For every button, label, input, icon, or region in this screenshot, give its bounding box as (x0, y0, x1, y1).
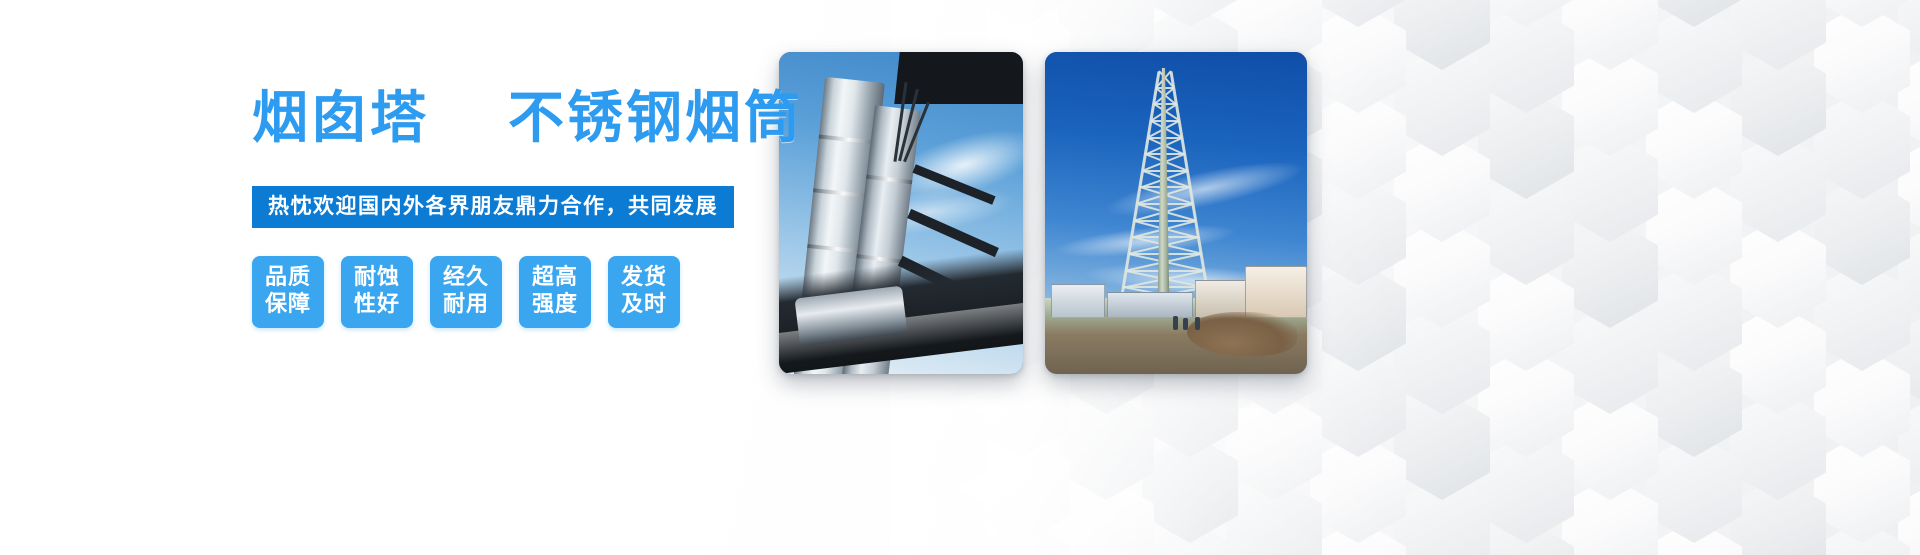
hexagon-tile (1814, 261, 1910, 371)
hexagon-tile (1898, 46, 1920, 156)
hexagon-tile (1730, 0, 1826, 70)
hexagon-tile (1394, 476, 1490, 555)
hexagon-tile (1730, 476, 1826, 555)
hexagon-tile (1730, 46, 1826, 156)
feature-badge-line2: 强度 (532, 292, 578, 319)
hexagon-tile (1814, 347, 1910, 457)
hexagon-tile (1478, 433, 1574, 543)
tagline-row: 热忱欢迎国内外各界朋友鼎力合作，共同发展 (252, 186, 892, 228)
feature-badge-list: 品质保障耐蚀性好经久耐用超高强度发货及时 (252, 256, 892, 328)
hexagon-tile (1310, 3, 1406, 113)
feature-badge[interactable]: 超高强度 (519, 256, 591, 328)
hexagon-tile (1898, 0, 1920, 70)
hexagon-tile (1562, 132, 1658, 242)
worker-figure (1195, 317, 1200, 330)
hexagon-tile (1898, 476, 1920, 555)
hexagon-tile (1646, 519, 1742, 555)
hexagon-tile (1394, 390, 1490, 500)
feature-badge[interactable]: 发货及时 (608, 256, 680, 328)
hexagon-tile (1814, 3, 1910, 113)
hexagon-tile (1478, 261, 1574, 371)
hexagon-tile (1562, 0, 1658, 70)
hexagon-tile (1814, 175, 1910, 285)
hexagon-tile (1058, 476, 1154, 555)
hexagon-tile (1646, 347, 1742, 457)
hexagon-tile (1898, 390, 1920, 500)
hexagon-tile (1310, 89, 1406, 199)
hexagon-tile (1310, 0, 1406, 27)
site-building (1245, 266, 1307, 318)
hexagon-tile (1310, 347, 1406, 457)
hexagon-tile (1814, 519, 1910, 555)
hexagon-tile (1478, 0, 1574, 27)
hexagon-tile (1394, 304, 1490, 414)
feature-badge-line1: 发货 (621, 265, 667, 292)
feature-badge-line1: 超高 (532, 265, 578, 292)
hexagon-tile (1394, 218, 1490, 328)
hexagon-tile (1646, 175, 1742, 285)
hexagon-tile (1310, 519, 1406, 555)
feature-badge-line2: 保障 (265, 292, 311, 319)
hexagon-tile (974, 519, 1070, 555)
hexagon-tile (1898, 304, 1920, 414)
feature-badge-line2: 及时 (621, 292, 667, 319)
hexagon-tile (1142, 0, 1238, 27)
hexagon-tile (1646, 3, 1742, 113)
hexagon-tile (1646, 433, 1742, 543)
hexagon-tile (1478, 347, 1574, 457)
hexagon-tile (1730, 218, 1826, 328)
site-building (1051, 284, 1105, 318)
hexagon-tile (1730, 304, 1826, 414)
tagline-banner: 热忱欢迎国内外各界朋友鼎力合作，共同发展 (252, 186, 734, 228)
photo-card-lattice-tower[interactable] (1045, 52, 1307, 374)
feature-badge-line2: 耐用 (443, 292, 489, 319)
banner-copy: 烟囱塔 不锈钢烟筒 热忱欢迎国内外各界朋友鼎力合作，共同发展 品质保障耐蚀性好经… (252, 86, 892, 328)
hexagon-tile (1058, 390, 1154, 500)
headline-part-2: 不锈钢烟筒 (508, 86, 803, 151)
hexagon-tile (1394, 46, 1490, 156)
worker-figure (1173, 316, 1178, 330)
hexagon-tile (1646, 89, 1742, 199)
hero-banner: 烟囱塔 不锈钢烟筒 热忱欢迎国内外各界朋友鼎力合作，共同发展 品质保障耐蚀性好经… (0, 0, 1920, 555)
feature-badge[interactable]: 经久耐用 (430, 256, 502, 328)
feature-badge-line2: 性好 (354, 292, 400, 319)
feature-badge[interactable]: 耐蚀性好 (341, 256, 413, 328)
hexagon-tile (1814, 433, 1910, 543)
hexagon-tile (1310, 175, 1406, 285)
hexagon-tile (974, 433, 1070, 543)
hexagon-tile (1646, 0, 1742, 27)
hexagon-tile (1814, 0, 1910, 27)
hexagon-tile (1478, 519, 1574, 555)
hexagon-tile (1646, 261, 1742, 371)
hexagon-tile (1394, 0, 1490, 70)
feature-badge-line1: 经久 (443, 265, 489, 292)
hexagon-tile (1310, 261, 1406, 371)
hexagon-tile (1562, 304, 1658, 414)
hexagon-tile (1478, 89, 1574, 199)
hexagon-tile (1562, 46, 1658, 156)
hexagon-tile (890, 390, 986, 500)
hexagon-tile (1814, 89, 1910, 199)
hexagon-tile (1478, 3, 1574, 113)
headline-part-1: 烟囱塔 (252, 86, 429, 151)
hexagon-tile (1730, 132, 1826, 242)
feature-badge-line1: 耐蚀 (354, 265, 400, 292)
hexagon-tile (1226, 390, 1322, 500)
hexagon-tile (1730, 390, 1826, 500)
hexagon-tile (1478, 175, 1574, 285)
hexagon-tile (1562, 476, 1658, 555)
hexagon-tile (1142, 433, 1238, 543)
feature-badge-line1: 品质 (265, 265, 311, 292)
hexagon-tile (974, 0, 1070, 27)
worker-figure (1183, 318, 1188, 330)
hexagon-tile (1394, 132, 1490, 242)
hexagon-tile (1898, 132, 1920, 242)
hexagon-tile (1898, 218, 1920, 328)
hexagon-tile (1562, 218, 1658, 328)
hexagon-tile (1142, 519, 1238, 555)
hexagon-tile (1226, 476, 1322, 555)
hexagon-tile (890, 476, 986, 555)
hexagon-tile (1562, 390, 1658, 500)
feature-badge[interactable]: 品质保障 (252, 256, 324, 328)
hexagon-tile (1310, 433, 1406, 543)
page-title: 烟囱塔 不锈钢烟筒 (252, 86, 892, 152)
site-building (1107, 292, 1193, 318)
